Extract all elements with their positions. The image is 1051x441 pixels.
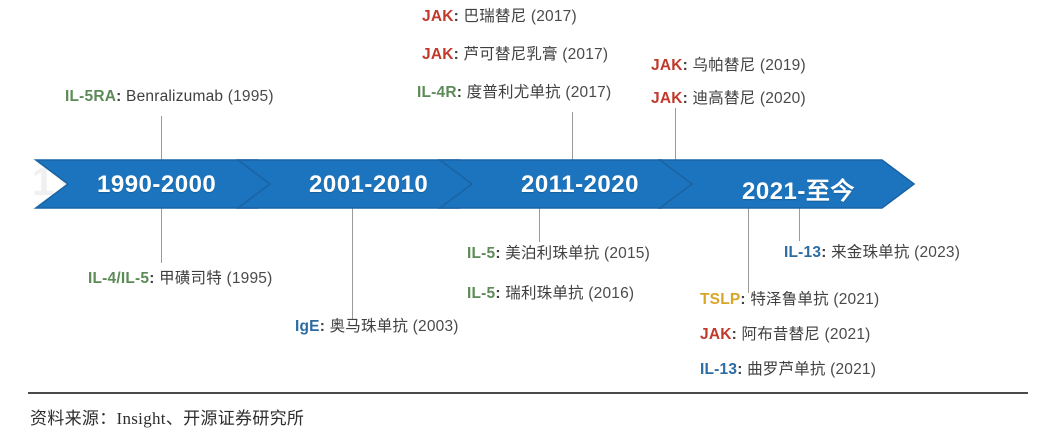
event-tag: IL-13 (784, 244, 821, 261)
event-year: (2019) (760, 57, 806, 74)
connector-line-il5-group (539, 205, 540, 242)
connector-line-lebrikizumab (799, 205, 800, 241)
event-label-omalizumab: IgE: 奥马珠单抗 (2003) (295, 318, 459, 335)
event-tag: JAK (422, 8, 454, 25)
event-tag: IgE (295, 318, 320, 335)
event-label-tezepelumab: TSLP: 特泽鲁单抗 (2021) (700, 291, 879, 308)
period-label-2: 2001-2010 (309, 171, 428, 199)
event-colon: : (740, 291, 745, 308)
event-year: (2016) (588, 285, 634, 302)
event-name: 来金珠单抗 (831, 244, 910, 261)
event-name: 迪高替尼 (693, 90, 756, 107)
event-colon: : (454, 46, 459, 63)
event-colon: : (454, 8, 459, 25)
event-name: 曲罗芦单抗 (747, 361, 826, 378)
event-tag: IL-4R (417, 84, 457, 101)
footer-divider (28, 392, 1028, 394)
period-label-4: 2021-至今 (742, 171, 855, 206)
period-label-1: 1990-2000 (97, 171, 216, 199)
event-year: (2017) (562, 46, 608, 63)
event-colon: : (737, 361, 742, 378)
event-label-baricitinib: JAK: 巴瑞替尼 (2017) (422, 8, 577, 25)
event-label-delgocitinib: JAK: 迪高替尼 (2020) (651, 90, 806, 107)
event-colon: : (116, 88, 121, 105)
event-name: 特泽鲁单抗 (750, 291, 829, 308)
event-colon: : (683, 90, 688, 107)
period-label-3: 2011-2020 (521, 171, 639, 199)
event-year: (1995) (226, 270, 272, 287)
event-tag: JAK (422, 46, 454, 63)
event-name: 芦可替尼乳膏 (464, 46, 558, 63)
event-year: (2021) (825, 326, 871, 343)
event-name: 美泊利珠单抗 (505, 245, 599, 262)
event-tag: JAK (651, 57, 683, 74)
event-tag: IL-4/IL-5 (88, 270, 149, 287)
event-name: 阿布昔替尼 (742, 326, 821, 343)
event-colon: : (495, 245, 500, 262)
event-year: (2003) (413, 318, 459, 335)
event-year: (2021) (830, 361, 876, 378)
event-name: 度普利尤单抗 (467, 84, 561, 101)
event-colon: : (320, 318, 325, 335)
event-label-benralizumab: IL-5RA: Benralizumab (1995) (65, 88, 274, 105)
event-label-reslizumab: IL-5: 瑞利珠单抗 (2016) (467, 285, 634, 302)
event-year: (1995) (228, 88, 274, 105)
event-label-dupilumab: IL-4R: 度普利尤单抗 (2017) (417, 84, 611, 101)
event-label-ruxolitinib-cream: JAK: 芦可替尼乳膏 (2017) (422, 46, 608, 63)
event-year: (2021) (833, 291, 879, 308)
event-tag: JAK (700, 326, 732, 343)
event-label-tralokinumab: IL-13: 曲罗芦单抗 (2021) (700, 361, 876, 378)
event-year: (2017) (565, 84, 611, 101)
source-note: 资料来源：Insight、开源证券研究所 (30, 404, 304, 429)
event-name: 乌帕替尼 (693, 57, 756, 74)
event-year: (2020) (760, 90, 806, 107)
event-colon: : (495, 285, 500, 302)
event-label-upadacitinib: JAK: 乌帕替尼 (2019) (651, 57, 806, 74)
timeline-bar (0, 0, 1051, 441)
connector-line-2017-group (572, 112, 573, 166)
event-tag: TSLP (700, 291, 740, 308)
event-label-mepolizumab: IL-5: 美泊利珠单抗 (2015) (467, 245, 650, 262)
connector-line-2019-2020-group (675, 108, 676, 166)
event-colon: : (821, 244, 826, 261)
event-name: 甲磺司特 (159, 270, 222, 287)
event-tag: IL-13 (700, 361, 737, 378)
connector-line-2021-group (748, 205, 749, 293)
event-label-abrocitinib: JAK: 阿布昔替尼 (2021) (700, 326, 871, 343)
event-label-lebrikizumab: IL-13: 来金珠单抗 (2023) (784, 244, 960, 261)
event-name: 巴瑞替尼 (464, 8, 527, 25)
event-year: (2023) (914, 244, 960, 261)
event-colon: : (683, 57, 688, 74)
event-label-suplatast: IL-4/IL-5: 甲磺司特 (1995) (88, 270, 272, 287)
timeline-figure: 1990-2000 2001-2010 2011-2020 1990-2000 … (0, 0, 1051, 441)
connector-line-omalizumab (352, 205, 353, 320)
event-year: (2017) (531, 8, 577, 25)
event-colon: : (457, 84, 462, 101)
event-name: 瑞利珠单抗 (505, 285, 584, 302)
event-colon: : (149, 270, 154, 287)
event-colon: : (732, 326, 737, 343)
event-tag: JAK (651, 90, 683, 107)
event-name: Benralizumab (126, 88, 223, 105)
connector-line-mepolizumab-group (161, 205, 162, 263)
event-year: (2015) (604, 245, 650, 262)
event-tag: IL-5 (467, 245, 495, 262)
event-tag: IL-5 (467, 285, 495, 302)
event-name: 奥马珠单抗 (330, 318, 409, 335)
event-tag: IL-5RA (65, 88, 116, 105)
connector-line-benralizumab (161, 116, 162, 166)
